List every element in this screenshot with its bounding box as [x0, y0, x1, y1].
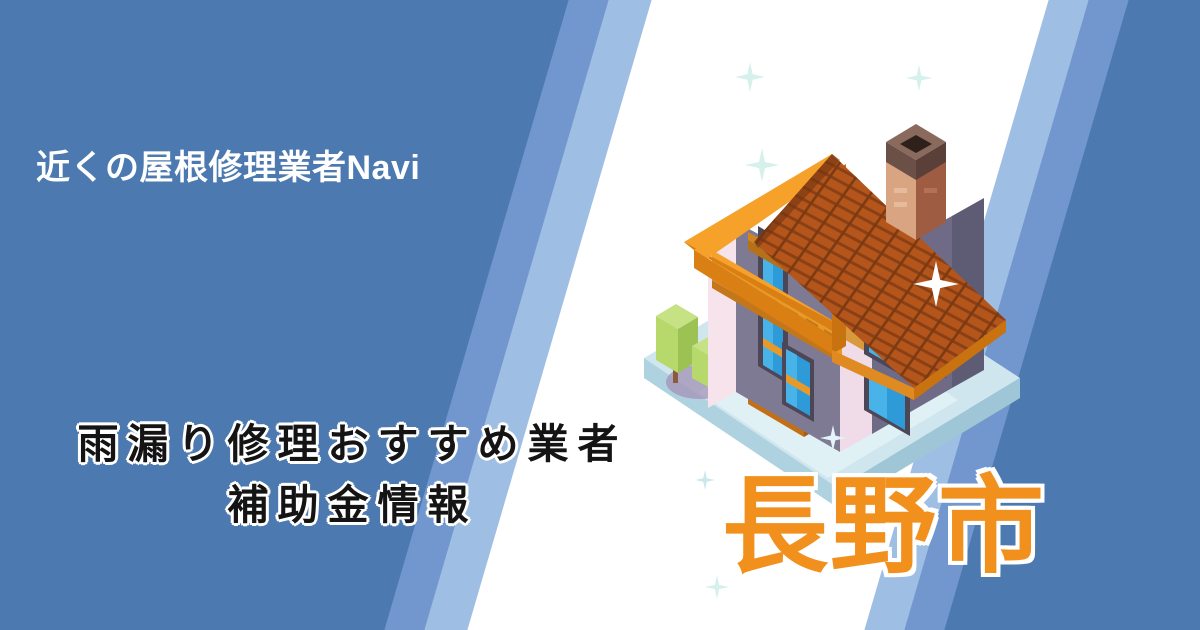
- isometric-house-illustration: [628, 92, 1028, 452]
- headline-line-1: 雨漏り修理おすすめ業者: [0, 414, 705, 475]
- headline-line-2: 補助金情報: [0, 475, 705, 536]
- site-title: 近くの屋根修理業者Navi: [36, 140, 420, 189]
- headline: 雨漏り修理おすすめ業者 補助金情報: [0, 414, 705, 535]
- banner-canvas: 近くの屋根修理業者Navi 雨漏り修理おすすめ業者 補助金情報 長野市: [0, 0, 1200, 630]
- city-name: 長野市: [722, 440, 1046, 594]
- chimney: [886, 124, 946, 240]
